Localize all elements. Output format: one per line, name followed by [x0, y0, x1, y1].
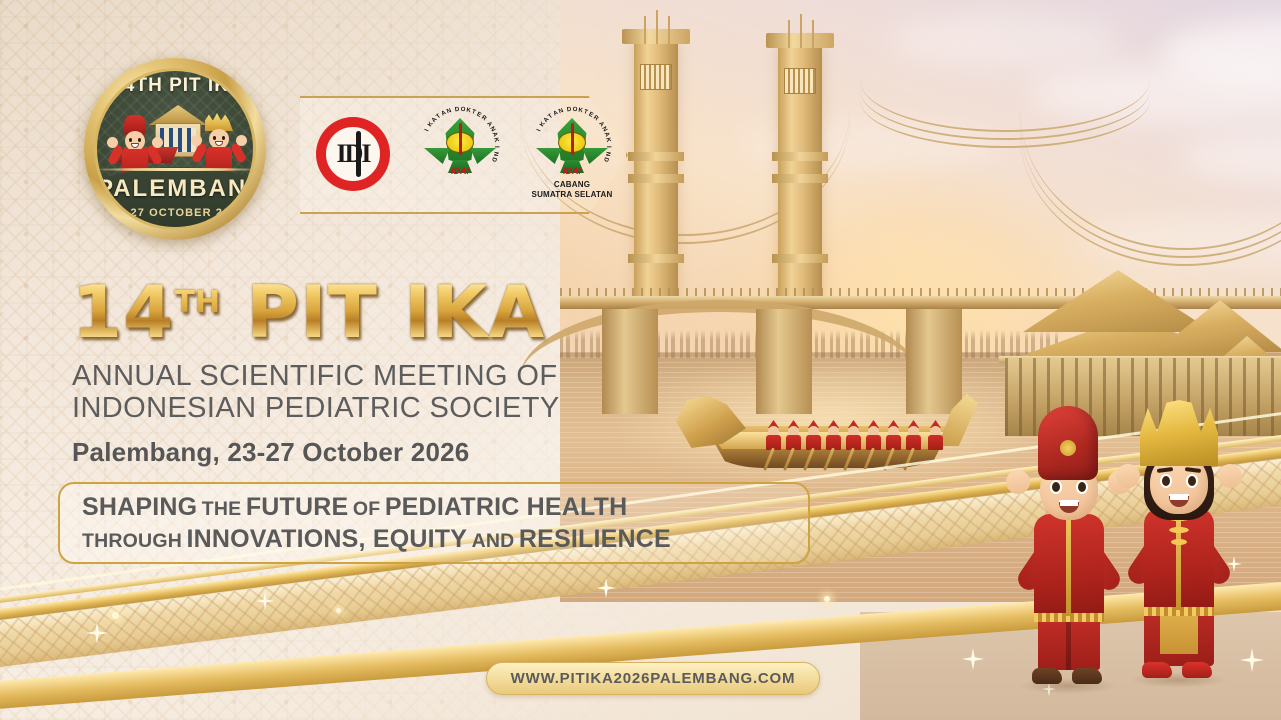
- pylon-band: [628, 254, 684, 263]
- theme-of: OF: [353, 498, 380, 520]
- dragon-boat-icon: [676, 392, 976, 480]
- event-logo-medallion[interactable]: 14TH PIT IKA PALEMBANG: [84, 58, 266, 240]
- boat-rower: [786, 420, 801, 450]
- theme-resilience: RESILIENCE: [519, 525, 671, 553]
- subtitle: ANNUAL SCIENTIFIC MEETING OF INDONESIAN …: [72, 360, 692, 425]
- songkok-hat-icon: [1038, 406, 1098, 480]
- website-pill[interactable]: WWW.PITIKA2026PALEMBANG.COM: [486, 662, 820, 695]
- pylon-mast: [668, 16, 670, 44]
- theme-future: FUTURE: [246, 493, 349, 521]
- boat-rower: [886, 420, 901, 450]
- pylon-mast: [788, 20, 790, 48]
- pylon-mast: [644, 16, 646, 44]
- partner-row: IDI I K A T A N D O K T E R A: [316, 104, 614, 204]
- title-ordinal-suffix: TH: [174, 285, 220, 320]
- idai-leaf-logo-icon[interactable]: I K A T A N D O K T E R A N A K I: [418, 104, 502, 204]
- pylon-band: [772, 152, 828, 161]
- pylon-mast: [812, 20, 814, 48]
- page-title: 14TH PIT IKA: [72, 276, 692, 348]
- boat-rower: [846, 420, 861, 450]
- subtitle-line-1: ANNUAL SCIENTIFIC MEETING OF: [72, 360, 692, 392]
- sparkle: [824, 596, 830, 602]
- boat-stern-tail: [938, 394, 978, 446]
- mascot-boy-palembang-icon: [1010, 406, 1128, 698]
- headline-block: 14TH PIT IKA ANNUAL SCIENTIFIC MEETING O…: [72, 276, 692, 468]
- theme-the: THE: [202, 498, 242, 520]
- theme-through: THROUGH: [82, 530, 182, 552]
- pylon-mast: [800, 14, 802, 48]
- subtitle-line-2: INDONESIAN PEDIATRIC SOCIETY: [72, 392, 692, 424]
- sparkle: [112, 612, 119, 619]
- boat-rower: [928, 420, 943, 450]
- mascot-group: [1008, 398, 1258, 698]
- boat-rower: [866, 420, 881, 450]
- theme-box: SHAPING THE FUTURE OF PEDIATRIC HEALTH T…: [58, 482, 810, 564]
- location-date: Palembang, 23-27 October 2026: [72, 437, 692, 468]
- boat-rower: [766, 420, 781, 450]
- logo-divider: [94, 168, 256, 171]
- theme-shaping: SHAPING: [82, 493, 197, 521]
- boat-rower: [806, 420, 821, 450]
- pylon-band: [772, 174, 828, 183]
- theme-innovations-equity: INNOVATIONS, EQUITY: [186, 525, 467, 553]
- idi-circle-logo-icon[interactable]: IDI: [316, 117, 390, 191]
- mascot-girl-palembang-icon: [1120, 400, 1238, 692]
- pylon-window: [640, 64, 672, 90]
- idai-branch-line2: SUMATRA SELATAN: [524, 190, 620, 200]
- bridge-pylon: [634, 42, 678, 300]
- pylon-band: [628, 152, 684, 161]
- logo-date-label: 23-27 OCTOBER 2027: [97, 207, 256, 219]
- title-ordinal-number: 14: [72, 270, 174, 354]
- pylon-band: [628, 174, 684, 183]
- idai-cabang-sumsel-logo-icon[interactable]: I K A T A N D O K T E R A N A K I: [530, 104, 614, 204]
- theme-pediatric-health: PEDIATRIC HEALTH: [385, 493, 628, 521]
- event-logo-inner: 14TH PIT IKA PALEMBANG: [94, 68, 256, 230]
- aesan-gede-crown-icon: [1140, 400, 1218, 466]
- title-rest: PIT IKA: [220, 270, 545, 354]
- theme-line-1: SHAPING THE FUTURE OF PEDIATRIC HEALTH: [82, 491, 808, 523]
- website-url: WWW.PITIKA2026PALEMBANG.COM: [511, 670, 796, 687]
- sparkle: [336, 608, 341, 613]
- bridge-cable: [1020, 134, 1281, 266]
- idai-abbr-text: IDAI: [418, 166, 502, 176]
- bridge-pylon: [778, 46, 822, 300]
- event-logo-arc-title: 14TH PIT IKA: [97, 75, 256, 97]
- idai-branch-line1: CABANG: [524, 180, 620, 190]
- pylon-mast: [656, 10, 658, 44]
- pylon-window: [784, 68, 816, 94]
- boat-rower: [826, 420, 841, 450]
- idi-mark-text: IDI: [316, 117, 390, 191]
- idai-branch-label: CABANG SUMATRA SELATAN: [524, 180, 620, 200]
- idai-abbr-text: IDAI: [530, 166, 614, 176]
- conference-banner: 14TH PIT IKA PALEMBANG: [0, 0, 1281, 720]
- theme-line-2: THROUGH INNOVATIONS, EQUITY AND RESILIEN…: [82, 523, 808, 555]
- boat-rower: [906, 420, 921, 450]
- limas-roof: [1023, 270, 1213, 332]
- partner-logos-group: IDI I K A T A N D O K T E R A: [300, 96, 628, 214]
- pylon-band: [772, 254, 828, 263]
- logo-city-label: PALEMBANG: [97, 175, 256, 203]
- theme-and: AND: [472, 530, 515, 552]
